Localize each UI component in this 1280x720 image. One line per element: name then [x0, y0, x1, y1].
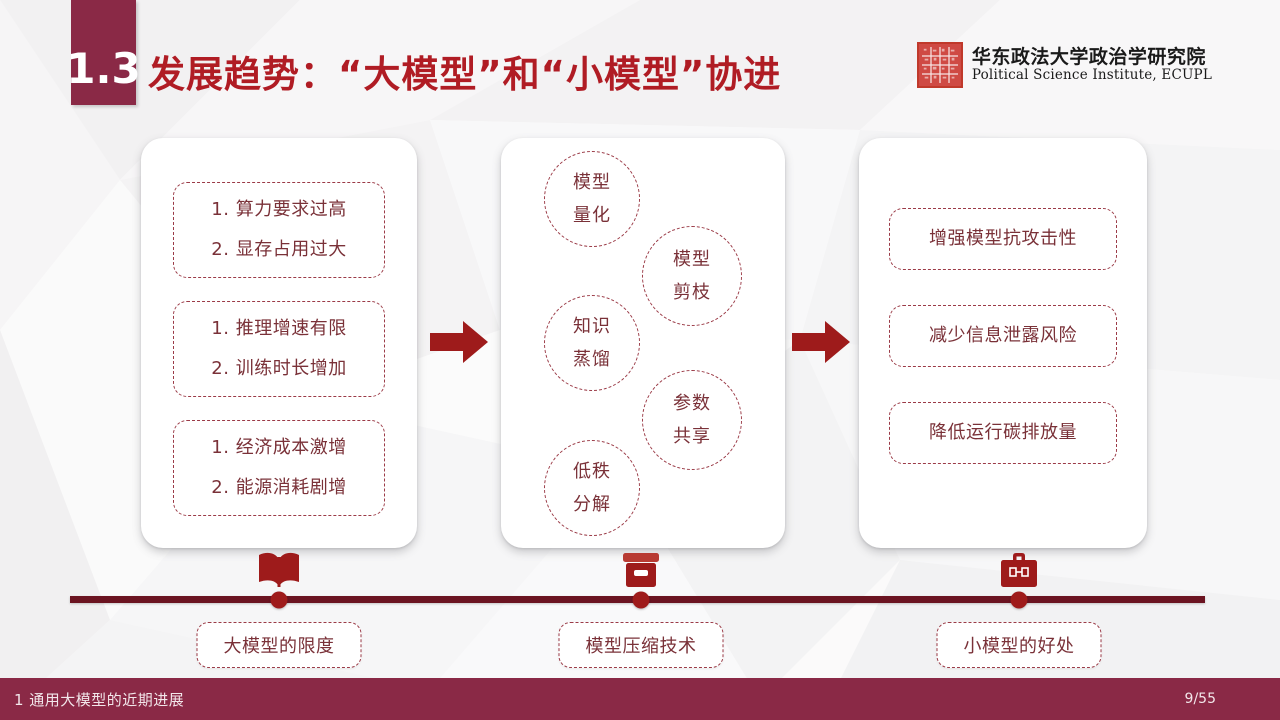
logo-name-en: Political Science Institute, ECUPL	[972, 68, 1212, 83]
technique-circle-5: 低秩 分解	[544, 440, 640, 536]
benefit-box-3: 降低运行碳排放量	[889, 402, 1117, 464]
open-book-icon	[257, 551, 301, 595]
benefit-box-1-line-1: 增强模型抗攻击性	[929, 230, 1077, 248]
limit-box-2-line-2: 2. 训练时长增加	[211, 360, 346, 378]
technique-circle-3-line-2: 蒸馏	[573, 351, 611, 369]
timeline-label-2: 模型压缩技术	[559, 622, 724, 668]
technique-circle-5-line-2: 分解	[573, 496, 611, 514]
benefit-box-2-line-1: 减少信息泄露风险	[929, 327, 1077, 345]
card-large-model-limits: 1. 算力要求过高 2. 显存占用过大 1. 推理增速有限 2. 训练时长增加 …	[141, 138, 417, 548]
chinese-seal-icon	[917, 42, 963, 88]
footer-section-label: 1 通用大模型的近期进展	[14, 689, 184, 710]
technique-circle-2-line-2: 剪枝	[673, 284, 711, 302]
limit-box-3: 1. 经济成本激增 2. 能源消耗剧增	[173, 420, 385, 516]
footer-bar: 1 通用大模型的近期进展 9/55	[0, 678, 1280, 720]
limit-box-3-line-2: 2. 能源消耗剧增	[211, 479, 346, 497]
benefit-box-3-line-1: 降低运行碳排放量	[929, 424, 1077, 442]
technique-circle-4-line-1: 参数	[673, 395, 711, 413]
limit-box-2: 1. 推理增速有限 2. 训练时长增加	[173, 301, 385, 397]
benefit-box-2: 减少信息泄露风险	[889, 305, 1117, 367]
technique-circle-1-line-1: 模型	[573, 174, 611, 192]
limit-box-2-line-1: 1. 推理增速有限	[211, 320, 346, 338]
technique-circle-4: 参数 共享	[642, 370, 742, 470]
arrow-right-icon-2	[792, 320, 850, 364]
technique-circle-3-line-1: 知识	[573, 318, 611, 336]
benefit-box-1: 增强模型抗攻击性	[889, 208, 1117, 270]
logo-name-cn: 华东政法大学政治学研究院	[972, 47, 1212, 68]
timeline-label-3: 小模型的好处	[937, 622, 1102, 668]
timeline-label-1: 大模型的限度	[197, 622, 362, 668]
technique-circle-5-line-1: 低秩	[573, 463, 611, 481]
limit-box-1: 1. 算力要求过高 2. 显存占用过大	[173, 182, 385, 278]
arrow-right-icon-1	[430, 320, 488, 364]
timeline-dot-1	[271, 592, 288, 609]
card-small-model-benefits: 增强模型抗攻击性 减少信息泄露风险 降低运行碳排放量	[859, 138, 1147, 548]
footer-page-number: 9/55	[1185, 691, 1216, 707]
briefcase-icon	[998, 551, 1040, 595]
technique-circle-1: 模型 量化	[544, 151, 640, 247]
archive-box-icon	[620, 551, 662, 595]
page-title: 发展趋势：“大模型”和“小模型”协进	[148, 44, 781, 98]
limit-box-1-line-2: 2. 显存占用过大	[211, 241, 346, 259]
limit-box-3-line-1: 1. 经济成本激增	[211, 439, 346, 457]
technique-circle-2: 模型 剪枝	[642, 226, 742, 326]
timeline-dot-3	[1011, 592, 1028, 609]
technique-circle-4-line-2: 共享	[673, 428, 711, 446]
technique-circle-3: 知识 蒸馏	[544, 295, 640, 391]
card-compression-techniques: 模型 量化 模型 剪枝 知识 蒸馏 参数 共享 低秩 分解	[501, 138, 785, 548]
institution-logo: 华东政法大学政治学研究院 Political Science Institute…	[917, 42, 1212, 88]
slide-root: 1.3 发展趋势：“大模型”和“小模型”协进	[0, 0, 1280, 720]
limit-box-1-line-1: 1. 算力要求过高	[211, 201, 346, 219]
technique-circle-2-line-1: 模型	[673, 251, 711, 269]
technique-circle-1-line-2: 量化	[573, 207, 611, 225]
section-number-badge: 1.3	[71, 0, 136, 105]
timeline-dot-2	[633, 592, 650, 609]
